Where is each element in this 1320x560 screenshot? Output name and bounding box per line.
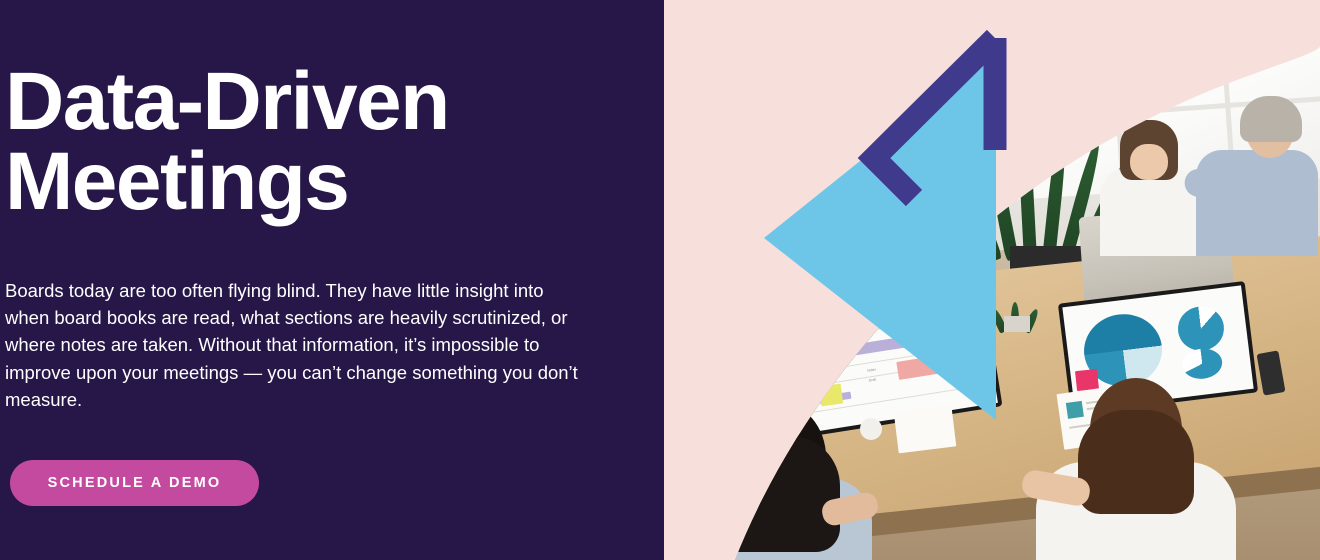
office-photo: PLANNER CALENDAR Upcoming Owner Status N… <box>664 0 1320 560</box>
small-desk-plant <box>994 290 1038 332</box>
person-standing <box>1184 96 1320 256</box>
page-title: Data-Driven Meetings <box>5 62 449 223</box>
hero-art-panel: PLANNER CALENDAR Upcoming Owner Status N… <box>664 0 1320 560</box>
remote-device <box>766 237 787 269</box>
purple-chevron-outline <box>874 38 995 198</box>
pie-chart-small <box>1175 304 1226 353</box>
hero-section: Data-Driven Meetings Boards today are to… <box>0 0 1320 560</box>
hero-artwork: PLANNER CALENDAR Upcoming Owner Status N… <box>664 0 1320 560</box>
person-front-left <box>682 392 872 560</box>
sticky-note-teal <box>701 451 724 466</box>
hero-text-inner: Data-Driven Meetings Boards today are to… <box>5 0 605 560</box>
person-front-right <box>1036 370 1236 560</box>
schedule-demo-button[interactable]: SCHEDULE A DEMO <box>10 460 259 506</box>
hero-text-panel: Data-Driven Meetings Boards today are to… <box>0 0 664 560</box>
hero-description: Boards today are too often flying blind.… <box>5 277 580 413</box>
person-back-left <box>856 132 976 272</box>
planner-screen-title: PLANNER CALENDAR <box>780 313 854 332</box>
notepad <box>894 405 957 454</box>
